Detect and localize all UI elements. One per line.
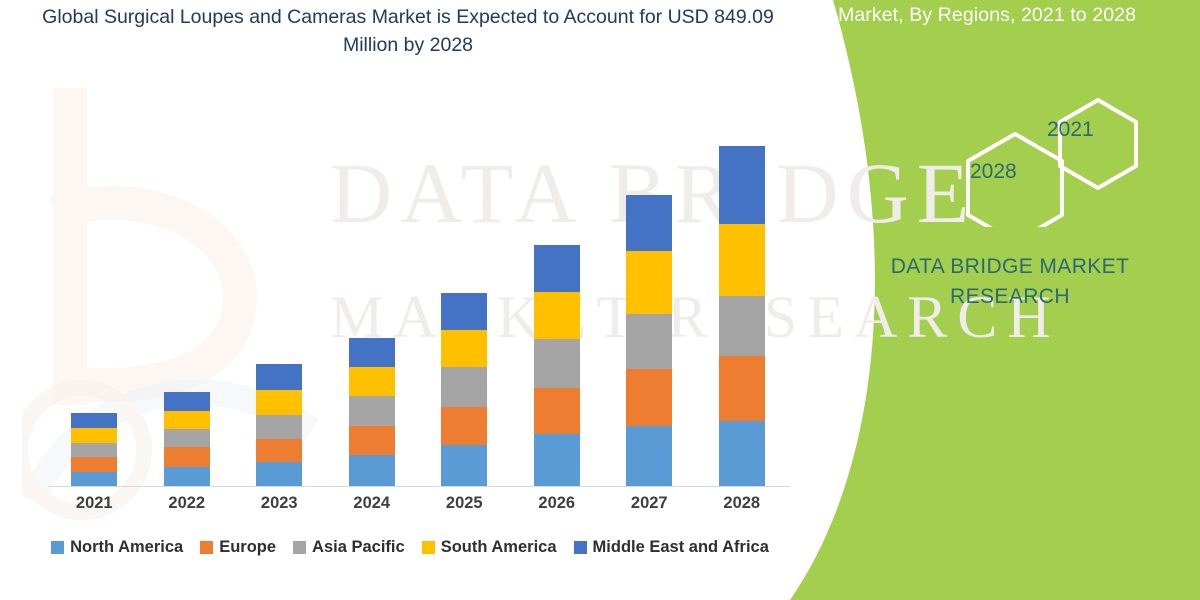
segment-middle-east-and-africa-2028 — [719, 146, 765, 223]
segment-south-america-2026 — [534, 292, 580, 339]
legend-swatch-icon — [200, 541, 213, 554]
segment-europe-2023 — [256, 439, 302, 462]
legend-item-asia-pacific[interactable]: Asia Pacific — [293, 538, 405, 557]
hexagon-group: 2021 2028 — [840, 92, 1180, 227]
segment-south-america-2021 — [71, 428, 117, 442]
bar-2025 — [441, 293, 487, 486]
bar-2024 — [349, 338, 395, 486]
bar-2027 — [626, 195, 672, 486]
segment-south-america-2027 — [626, 251, 672, 315]
segment-asia-pacific-2025 — [441, 367, 487, 407]
legend-item-europe[interactable]: Europe — [200, 538, 276, 557]
legend-label: North America — [70, 538, 183, 557]
segment-north-america-2024 — [349, 455, 395, 486]
segment-asia-pacific-2027 — [626, 314, 672, 369]
infographic-root: DATA BRIDGE MARKET RESEARCH Global Surgi… — [0, 0, 1200, 600]
segment-north-america-2022 — [164, 467, 210, 486]
brand-name: DATA BRIDGE MARKET RESEARCH — [820, 252, 1200, 313]
bar-2028 — [719, 146, 765, 486]
segment-south-america-2028 — [719, 224, 765, 296]
segment-middle-east-and-africa-2024 — [349, 338, 395, 367]
segment-asia-pacific-2026 — [534, 339, 580, 387]
segment-south-america-2025 — [441, 330, 487, 368]
legend-swatch-icon — [293, 541, 306, 554]
x-label-2025: 2025 — [418, 494, 511, 513]
legend-item-middle-east-and-africa[interactable]: Middle East and Africa — [574, 538, 769, 557]
segment-asia-pacific-2028 — [719, 296, 765, 356]
segment-north-america-2023 — [256, 462, 302, 486]
segment-middle-east-and-africa-2026 — [534, 245, 580, 292]
segment-north-america-2025 — [441, 445, 487, 486]
legend-swatch-icon — [422, 541, 435, 554]
right-panel: Market, By Regions, 2021 to 2028 2021 20… — [820, 0, 1200, 600]
segment-north-america-2027 — [626, 426, 672, 486]
segment-europe-2024 — [349, 426, 395, 455]
chart-legend: North AmericaEuropeAsia PacificSouth Ame… — [0, 538, 820, 557]
page-title: Global Surgical Loupes and Cameras Marke… — [28, 4, 788, 59]
segment-europe-2021 — [71, 457, 117, 471]
segment-middle-east-and-africa-2027 — [626, 195, 672, 251]
x-label-2022: 2022 — [141, 494, 234, 513]
brand-line-2: RESEARCH — [820, 282, 1200, 312]
segment-europe-2027 — [626, 369, 672, 426]
segment-south-america-2023 — [256, 390, 302, 415]
x-axis-line — [48, 486, 790, 487]
bar-2026 — [534, 245, 580, 486]
segment-europe-2028 — [719, 356, 765, 422]
segment-europe-2026 — [534, 388, 580, 434]
brand-line-1: DATA BRIDGE MARKET — [820, 252, 1200, 282]
segment-north-america-2028 — [719, 421, 765, 486]
bar-2023 — [256, 364, 302, 486]
legend-swatch-icon — [51, 541, 64, 554]
legend-item-north-america[interactable]: North America — [51, 538, 183, 557]
x-label-2026: 2026 — [511, 494, 604, 513]
chart-area: DATA BRIDGE MARKET RESEARCH Global Surgi… — [0, 0, 830, 600]
segment-asia-pacific-2021 — [71, 443, 117, 457]
x-label-2021: 2021 — [48, 494, 141, 513]
x-axis-labels: 20212022202320242025202620272028 — [48, 494, 790, 524]
stacked-bar-chart — [48, 100, 788, 486]
legend-label: Asia Pacific — [312, 538, 405, 557]
segment-south-america-2024 — [349, 367, 395, 396]
legend-label: Middle East and Africa — [593, 538, 769, 557]
segment-europe-2022 — [164, 447, 210, 466]
x-label-2028: 2028 — [696, 494, 789, 513]
segment-europe-2025 — [441, 407, 487, 445]
segment-middle-east-and-africa-2021 — [71, 413, 117, 428]
segment-south-america-2022 — [164, 411, 210, 429]
hexagon-label-2021: 2021 — [1047, 118, 1094, 142]
segment-asia-pacific-2023 — [256, 415, 302, 439]
legend-label: South America — [441, 538, 557, 557]
legend-item-south-america[interactable]: South America — [422, 538, 557, 557]
bar-2021 — [71, 413, 117, 486]
panel-heading: Market, By Regions, 2021 to 2028 — [838, 2, 1198, 28]
segment-middle-east-and-africa-2025 — [441, 293, 487, 330]
segment-asia-pacific-2022 — [164, 429, 210, 447]
legend-swatch-icon — [574, 541, 587, 554]
x-label-2023: 2023 — [233, 494, 326, 513]
segment-middle-east-and-africa-2022 — [164, 392, 210, 410]
segment-north-america-2026 — [534, 434, 580, 486]
segment-asia-pacific-2024 — [349, 396, 395, 426]
segment-middle-east-and-africa-2023 — [256, 364, 302, 389]
bar-2022 — [164, 392, 210, 486]
x-label-2024: 2024 — [326, 494, 419, 513]
x-label-2027: 2027 — [603, 494, 696, 513]
legend-label: Europe — [219, 538, 276, 557]
segment-north-america-2021 — [71, 472, 117, 486]
hexagon-label-2028: 2028 — [970, 160, 1017, 184]
